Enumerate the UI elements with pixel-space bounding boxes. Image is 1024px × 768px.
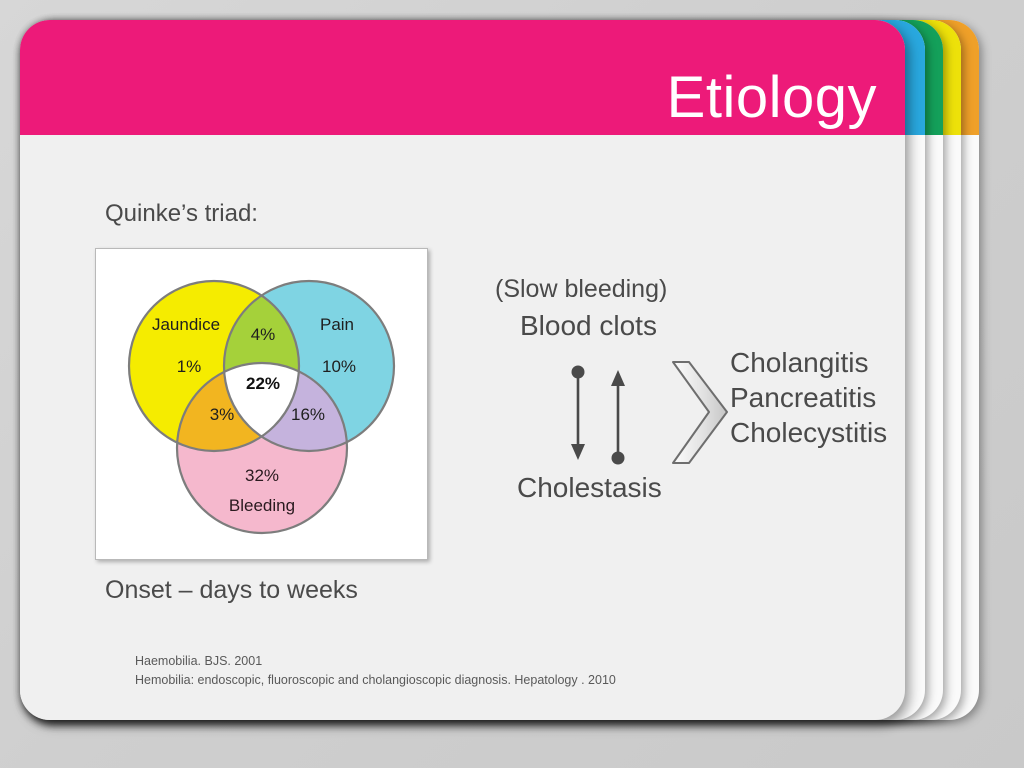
venn-value-bleeding: 32%	[245, 466, 279, 485]
venn-label-jaundice: Jaundice	[152, 315, 220, 334]
citations: Haemobilia. BJS. 2001 Hemobilia: endosco…	[135, 652, 616, 690]
cholestasis-label: Cholestasis	[517, 472, 662, 504]
chevron-icon	[673, 362, 727, 463]
outcome-cholecystitis: Cholecystitis	[730, 415, 887, 450]
arrow-up-icon	[611, 370, 625, 465]
citation-2: Hemobilia: endoscopic, fluoroscopic and …	[135, 671, 616, 690]
page-title: Etiology	[667, 67, 877, 129]
venn-value-jaundice-bleeding: 3%	[210, 405, 235, 424]
bidirectional-arrows	[550, 360, 660, 470]
slide-stage: Etiology Quinke’s triad:	[0, 0, 1024, 768]
venn-diagram-image: Jaundice 1% Pain 10% 32% Bleeding 4% 3% …	[95, 248, 428, 560]
outcome-cholangitis: Cholangitis	[730, 345, 887, 380]
onset-text: Onset – days to weeks	[105, 576, 358, 605]
venn-value-all-three: 22%	[246, 374, 280, 393]
venn-value-pain: 10%	[322, 357, 356, 376]
venn-svg: Jaundice 1% Pain 10% 32% Bleeding 4% 3% …	[96, 249, 427, 559]
venn-label-pain: Pain	[320, 315, 354, 334]
venn-value-jaundice-pain: 4%	[251, 325, 276, 344]
blood-clots-label: Blood clots	[520, 310, 657, 342]
venn-value-jaundice: 1%	[177, 357, 202, 376]
slow-bleeding-label: (Slow bleeding)	[495, 275, 667, 304]
section-subtitle: Quinke’s triad:	[105, 200, 258, 228]
outcome-pancreatitis: Pancreatitis	[730, 380, 887, 415]
venn-value-pain-bleeding: 16%	[291, 405, 325, 424]
slide-header: Etiology	[20, 20, 905, 135]
chevron-right-arrow	[665, 355, 740, 470]
slide-card: Etiology Quinke’s triad:	[20, 20, 905, 720]
arrow-down-icon	[571, 366, 585, 461]
citation-1: Haemobilia. BJS. 2001	[135, 652, 616, 671]
outcomes-list: Cholangitis Pancreatitis Cholecystitis	[730, 345, 887, 450]
venn-label-bleeding: Bleeding	[229, 496, 295, 515]
